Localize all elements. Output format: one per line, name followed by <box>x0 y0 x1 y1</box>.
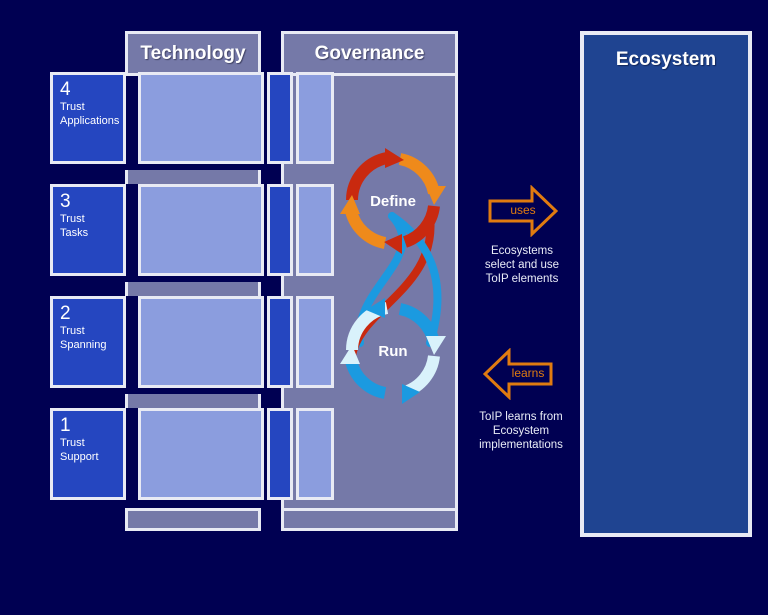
interop-divider-cell[interactable] <box>267 296 293 388</box>
technology-column-title: Technology <box>128 34 258 73</box>
define-label: Define <box>370 193 416 210</box>
layer-title-line1: Trust <box>60 213 118 226</box>
governance-column-title: Governance <box>284 34 455 73</box>
layer-number: 4 <box>60 79 118 100</box>
row-separator-band <box>125 394 261 408</box>
learns-caption-line2: Ecosystem <box>461 424 581 438</box>
layer-number: 1 <box>60 415 118 436</box>
uses-caption-line2: select and use <box>462 258 582 272</box>
technology-column-header: Technology <box>125 31 261 76</box>
governance-cell[interactable] <box>296 72 334 164</box>
technology-column-footer <box>125 508 261 531</box>
learns-arrow-label: learns <box>498 366 558 380</box>
learns-caption-line1: ToIP learns from <box>461 410 581 424</box>
interop-divider-cell[interactable] <box>267 184 293 276</box>
layer-label-4[interactable]: 4 Trust Applications <box>50 72 126 164</box>
run-label: Run <box>378 343 407 360</box>
layer-title-line2: Spanning <box>60 339 118 352</box>
define-run-infinity-loop: Define Run <box>330 138 460 413</box>
uses-caption-line1: Ecosystems <box>462 244 582 258</box>
interop-divider-cell[interactable] <box>267 408 293 500</box>
interop-divider-cell[interactable] <box>267 72 293 164</box>
diagram-canvas: Technology Governance 4 Trust Applicatio… <box>0 0 768 615</box>
technology-cell[interactable] <box>138 296 264 388</box>
layer-title-line2: Applications <box>60 115 118 128</box>
governance-cell[interactable] <box>296 408 334 500</box>
layer-title-line2: Support <box>60 451 118 464</box>
layer-title-line2: Tasks <box>60 227 118 240</box>
layer-title-line1: Trust <box>60 101 118 114</box>
technology-cell[interactable] <box>138 184 264 276</box>
layer-row[interactable]: 1 Trust Support <box>50 408 465 500</box>
row-separator-band <box>125 170 261 184</box>
layer-title-line1: Trust <box>60 437 118 450</box>
layer-number: 3 <box>60 191 118 212</box>
technology-cell[interactable] <box>138 72 264 164</box>
layer-title-line1: Trust <box>60 325 118 338</box>
uses-caption: Ecosystems select and use ToIP elements <box>462 244 582 286</box>
layer-label-1[interactable]: 1 Trust Support <box>50 408 126 500</box>
ecosystem-title: Ecosystem <box>584 49 748 71</box>
learns-caption-line3: implementations <box>461 438 581 452</box>
governance-cell[interactable] <box>296 184 334 276</box>
uses-arrow-label: uses <box>493 203 553 217</box>
governance-cell[interactable] <box>296 296 334 388</box>
layer-label-2[interactable]: 2 Trust Spanning <box>50 296 126 388</box>
layer-label-3[interactable]: 3 Trust Tasks <box>50 184 126 276</box>
governance-column-footer <box>281 508 458 531</box>
technology-cell[interactable] <box>138 408 264 500</box>
row-separator-band <box>125 282 261 296</box>
governance-column-header: Governance <box>281 31 458 76</box>
ecosystem-panel[interactable]: Ecosystem <box>580 31 752 537</box>
layer-number: 2 <box>60 303 118 324</box>
uses-caption-line3: ToIP elements <box>462 272 582 286</box>
learns-caption: ToIP learns from Ecosystem implementatio… <box>461 410 581 452</box>
